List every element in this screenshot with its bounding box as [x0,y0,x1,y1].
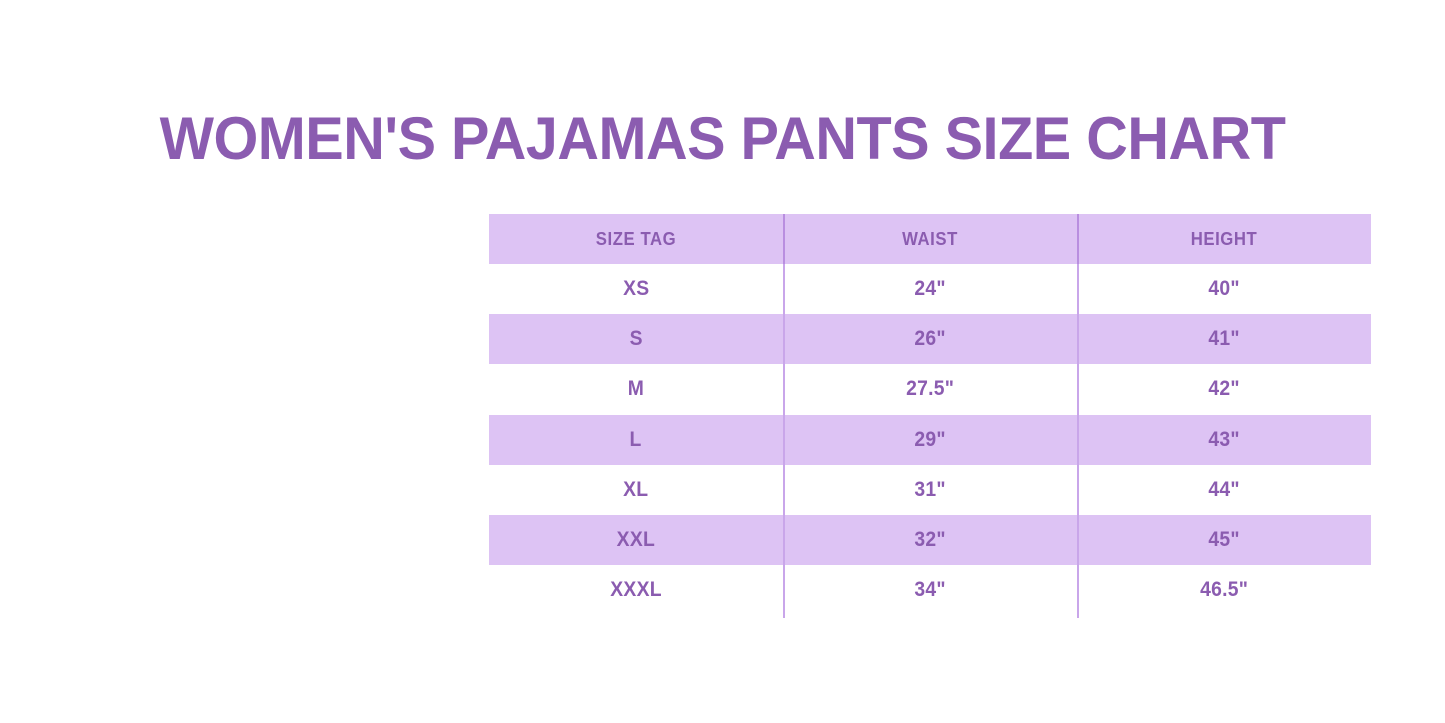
table-row: XS 24" 40" [489,264,1371,314]
cell-size-tag: M [489,364,783,414]
cell-waist: 31" [783,465,1077,515]
cell-waist-value: 32" [914,528,945,552]
cell-height-value: 40" [1208,277,1239,301]
column-header-size-tag-label: SIZE TAG [596,229,676,250]
table-row: S 26" 41" [489,314,1371,364]
cell-waist-value: 27.5" [906,377,954,401]
cell-size-tag-value: XXXL [610,578,662,602]
cell-height: 43" [1077,415,1371,465]
cell-size-tag: XS [489,264,783,314]
cell-height-value: 43" [1208,428,1239,452]
cell-height: 42" [1077,364,1371,414]
column-header-height: HEIGHT [1087,214,1360,264]
cell-waist: 32" [783,515,1077,565]
cell-size-tag-value: XL [623,478,648,502]
cell-waist-value: 34" [914,578,945,602]
size-chart-page: WOMEN'S PAJAMAS PANTS SIZE CHART SIZE TA… [0,0,1445,723]
cell-size-tag: S [489,314,783,364]
cell-size-tag-value: M [628,377,644,401]
cell-waist: 29" [783,415,1077,465]
cell-height-value: 44" [1208,478,1239,502]
cell-waist-value: 26" [914,327,945,351]
table-row: XXXL 34" 46.5" [489,565,1371,615]
cell-height: 46.5" [1077,565,1371,615]
cell-height-value: 45" [1208,528,1239,552]
table-header: SIZE TAG WAIST HEIGHT [489,214,1371,264]
page-title: WOMEN'S PAJAMAS PANTS SIZE CHART [29,106,1416,172]
column-header-waist-label: WAIST [902,229,958,250]
cell-waist: 24" [783,264,1077,314]
cell-waist-value: 29" [914,428,945,452]
cell-height: 44" [1077,465,1371,515]
cell-waist-value: 24" [914,277,945,301]
cell-size-tag-value: L [630,428,642,452]
table-header-row: SIZE TAG WAIST HEIGHT [489,214,1371,264]
cell-height: 40" [1077,264,1371,314]
column-header-waist: WAIST [793,214,1066,264]
cell-size-tag-value: XXL [617,528,655,552]
table-row: L 29" 43" [489,415,1371,465]
cell-height: 45" [1077,515,1371,565]
cell-height-value: 46.5" [1200,578,1248,602]
cell-size-tag-value: S [629,327,642,351]
column-header-height-label: HEIGHT [1191,229,1258,250]
cell-size-tag-value: XS [623,277,649,301]
cell-height-value: 42" [1208,377,1239,401]
column-header-size-tag: SIZE TAG [499,214,772,264]
cell-size-tag: L [489,415,783,465]
table-row: XL 31" 44" [489,465,1371,515]
table-row: XXL 32" 45" [489,515,1371,565]
cell-waist: 27.5" [783,364,1077,414]
cell-size-tag: XXL [489,515,783,565]
table-body: XS 24" 40" S 26" 41" M 27.5" 42" L 29" [489,264,1371,615]
size-chart-table-container: SIZE TAG WAIST HEIGHT XS 24" 40" [489,214,1371,615]
table-row: M 27.5" 42" [489,364,1371,414]
cell-waist-value: 31" [914,478,945,502]
cell-height-value: 41" [1208,327,1239,351]
size-chart-table: SIZE TAG WAIST HEIGHT XS 24" 40" [489,214,1371,615]
cell-height: 41" [1077,314,1371,364]
cell-size-tag: XL [489,465,783,515]
cell-waist: 26" [783,314,1077,364]
cell-waist: 34" [783,565,1077,615]
cell-size-tag: XXXL [489,565,783,615]
